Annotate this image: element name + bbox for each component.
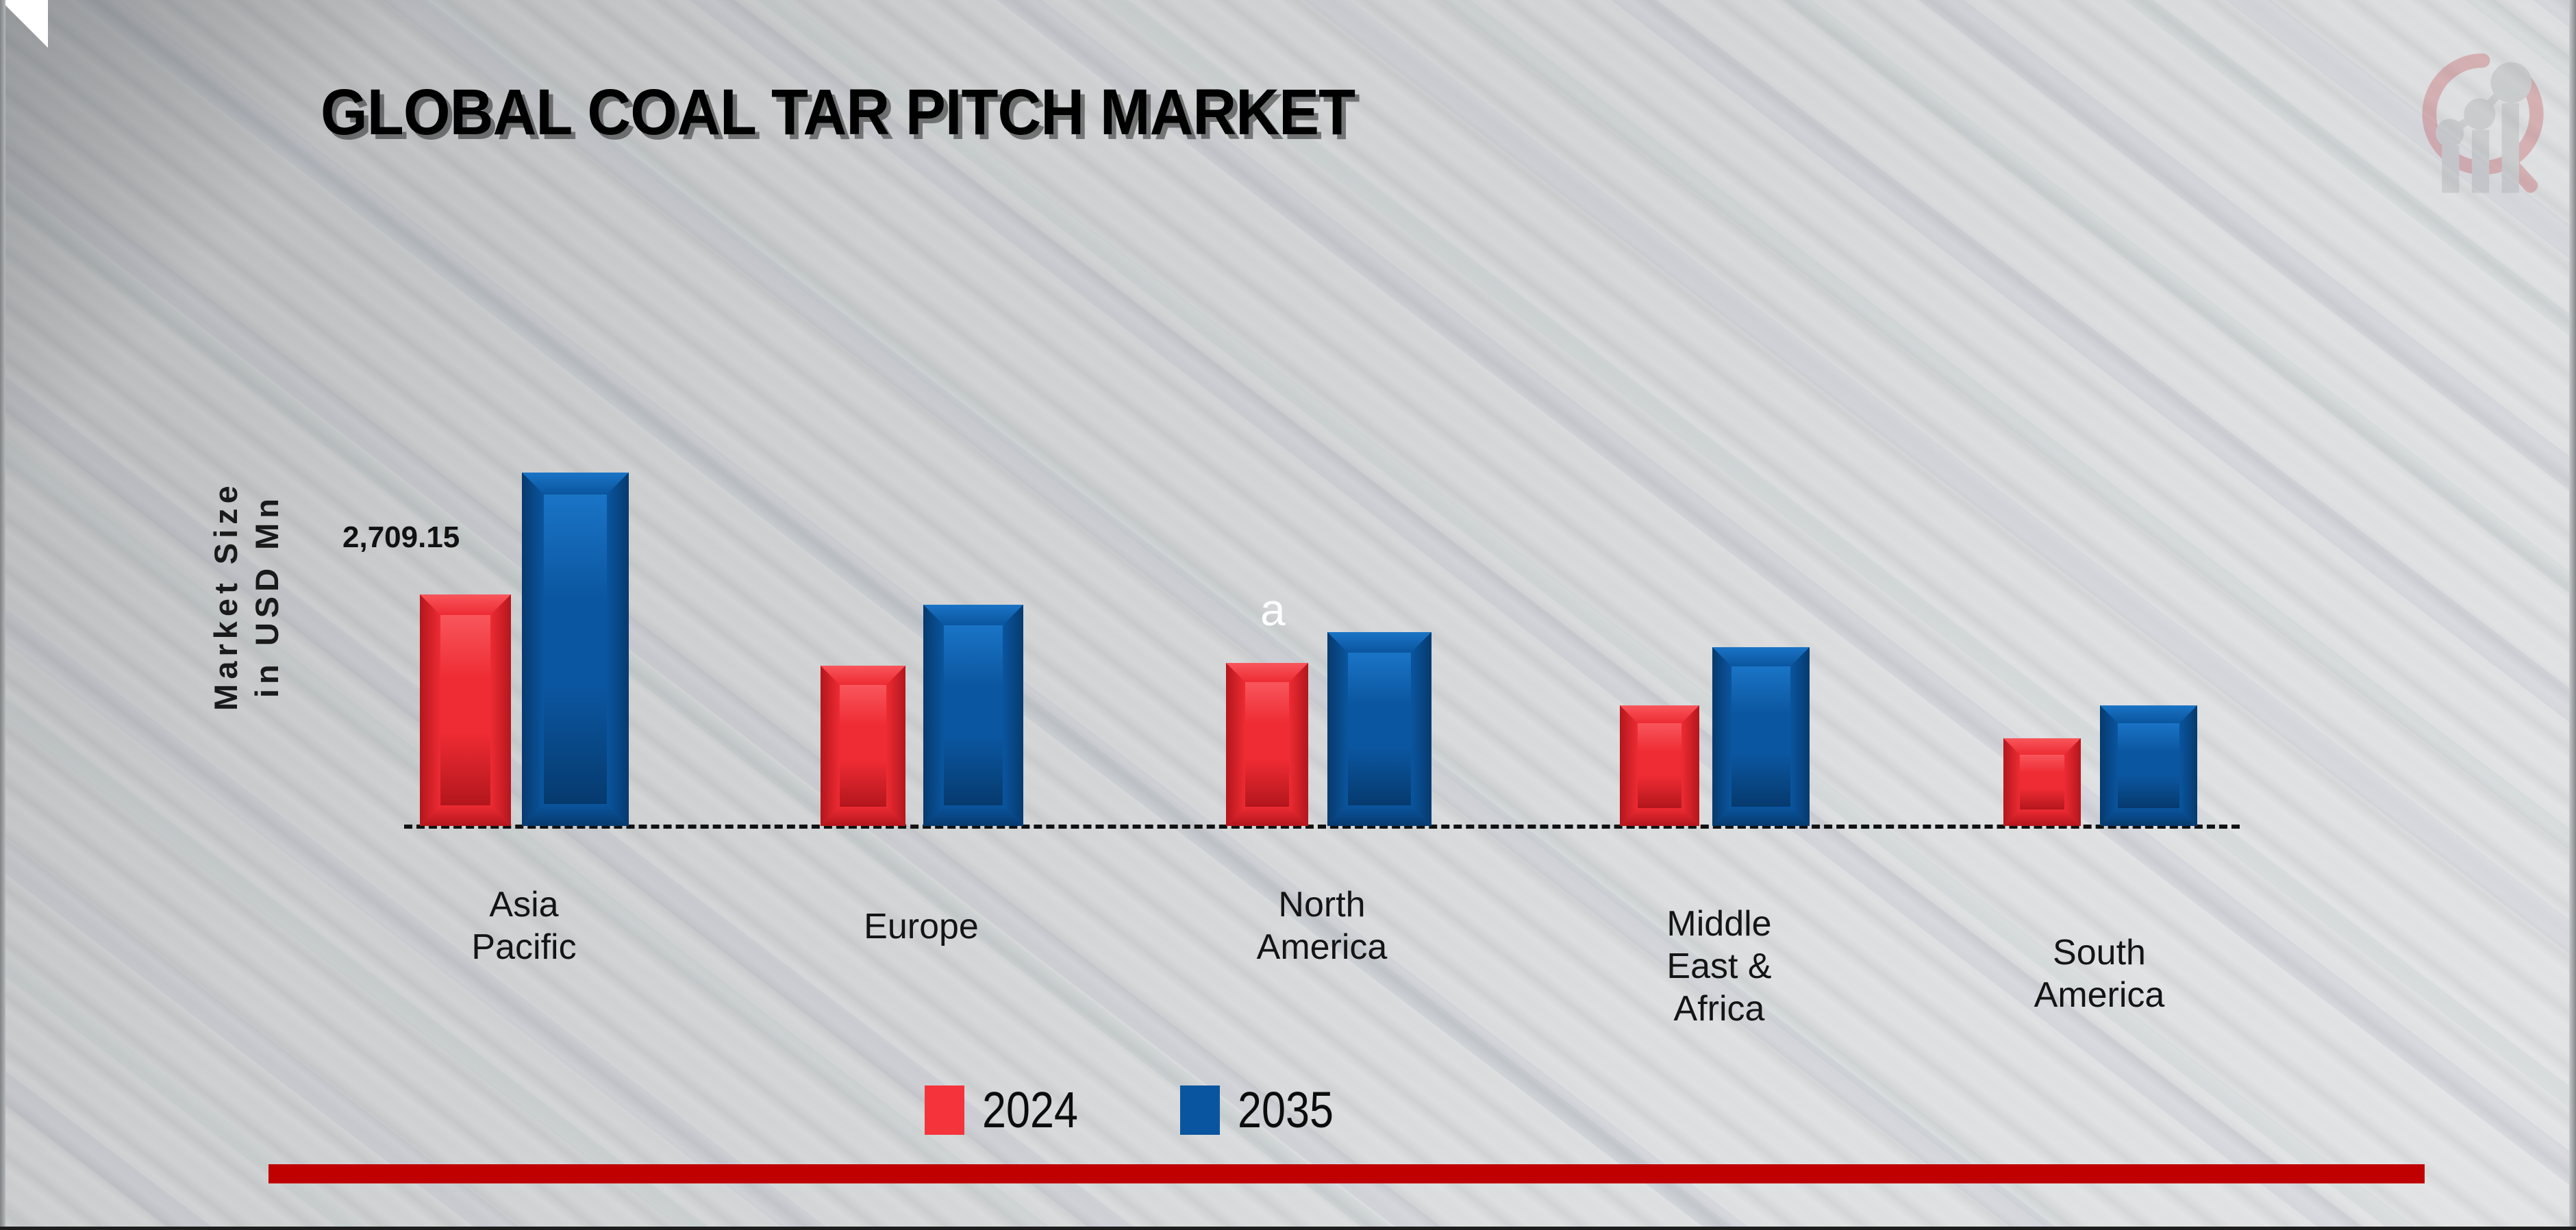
- bar-2024-europe[interactable]: [821, 666, 905, 826]
- legend-swatch-2024-icon: [925, 1085, 964, 1135]
- chart-slide: GLOBAL COAL TAR PITCH MARKET Market Size…: [0, 0, 2576, 1230]
- bar-2035-asia-pacific[interactable]: [522, 473, 629, 826]
- bar-2035-north-america[interactable]: [1327, 632, 1431, 826]
- legend-item-2024[interactable]: 2024: [925, 1081, 1095, 1139]
- legend-swatch-2035-icon: [1180, 1085, 1220, 1135]
- legend-label-2035: 2035: [1238, 1081, 1334, 1139]
- legend-label-2024: 2024: [982, 1081, 1078, 1139]
- bar-2024-south-america[interactable]: [2003, 738, 2081, 826]
- x-axis-label-north-america: North America: [1205, 883, 1438, 968]
- x-axis-label-europe: Europe: [805, 905, 1038, 948]
- x-axis-label-middle-east-africa: Middle East & Africa: [1603, 903, 1836, 1030]
- x-axis-label-south-america: South America: [1983, 931, 2216, 1016]
- data-note-north-america: a: [1260, 583, 1286, 636]
- chart-legend: 2024 2035: [925, 1081, 1350, 1139]
- legend-item-2035[interactable]: 2035: [1180, 1081, 1351, 1139]
- bar-2035-south-america[interactable]: [2100, 705, 2197, 826]
- bar-2035-europe[interactable]: [923, 605, 1023, 826]
- bar-2024-asia-pacific[interactable]: [420, 594, 511, 826]
- accent-rule: [268, 1164, 2425, 1183]
- bar-2035-middle-east-africa[interactable]: [1712, 647, 1810, 826]
- data-label-asia-pacific-2024: 2,709.15: [342, 520, 460, 555]
- bar-2024-middle-east-africa[interactable]: [1620, 705, 1699, 826]
- plot-area: 2,709.15 Asia Pacific Europe a North Ame…: [0, 0, 2576, 1230]
- x-axis-label-asia-pacific: Asia Pacific: [411, 883, 637, 968]
- bar-2024-north-america[interactable]: [1226, 663, 1308, 826]
- category-axis-baseline: [404, 825, 2240, 829]
